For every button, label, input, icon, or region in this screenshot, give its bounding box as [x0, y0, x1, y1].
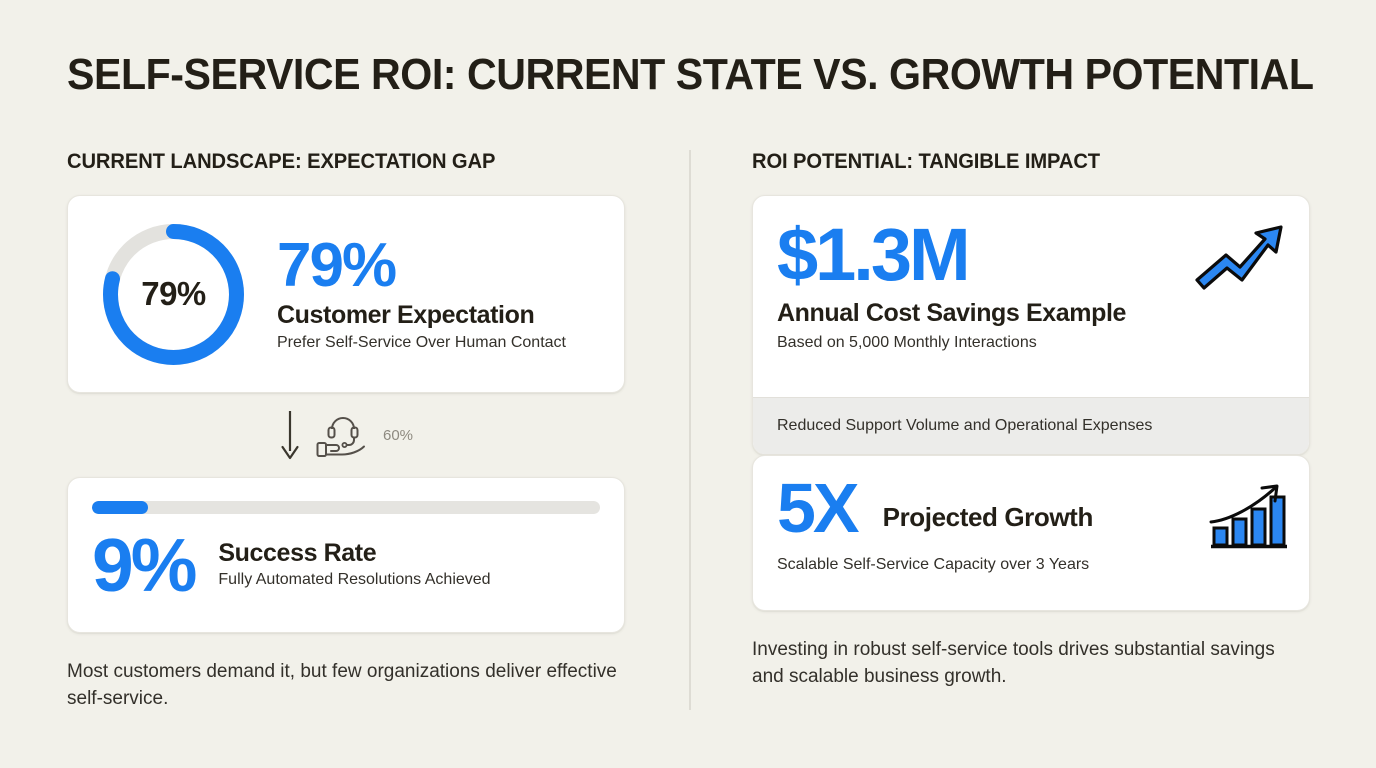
savings-label: Annual Cost Savings Example [777, 299, 1285, 328]
growth-label: Projected Growth [883, 484, 1093, 533]
donut-subtext: Prefer Self-Service Over Human Contact [277, 334, 566, 352]
headset-in-hand-icon [315, 410, 369, 460]
column-divider [689, 150, 691, 710]
donut-chart: 79% [96, 217, 251, 372]
success-subtext: Fully Automated Resolutions Achieved [218, 571, 490, 589]
savings-footer-note: Reduced Support Volume and Operational E… [753, 397, 1309, 454]
savings-subtext: Based on 5,000 Monthly Interactions [777, 334, 1285, 352]
customer-expectation-card: 79% 79% Customer Expectation Prefer Self… [67, 195, 625, 393]
donut-center-value: 79% [96, 217, 251, 372]
projected-growth-card: 5X Projected Growth Scalable Self-Servic… [752, 455, 1310, 611]
growth-subtext: Scalable Self-Service Capacity over 3 Ye… [777, 556, 1285, 574]
left-column: CURRENT LANDSCAPE: EXPECTATION GAP 79% 7… [67, 150, 625, 713]
annual-savings-card: $1.3M Annual Cost Savings Example Based … [752, 195, 1310, 455]
success-row: 9% Success Rate Fully Automated Resoluti… [92, 534, 600, 598]
donut-label: Customer Expectation [277, 301, 566, 330]
success-text-block: Success Rate Fully Automated Resolutions… [218, 539, 490, 593]
gap-connector: 60% [67, 393, 625, 477]
success-big-value: 9% [92, 534, 194, 598]
success-label: Success Rate [218, 539, 490, 568]
down-arrow-icon [279, 409, 301, 461]
left-column-footer: Most customers demand it, but few organi… [67, 659, 625, 713]
growth-big-value: 5X [777, 478, 857, 540]
savings-body: $1.3M Annual Cost Savings Example Based … [753, 196, 1309, 397]
success-progress-track [92, 501, 600, 514]
connector-percent-label: 60% [383, 427, 413, 444]
page-title: SELF-SERVICE ROI: CURRENT STATE VS. GROW… [67, 50, 1236, 100]
trend-up-arrow-icon [1193, 222, 1285, 292]
success-progress-fill [92, 501, 148, 514]
success-rate-card: 9% Success Rate Fully Automated Resoluti… [67, 477, 625, 633]
donut-big-value: 79% [277, 236, 566, 297]
right-column: ROI POTENTIAL: TANGIBLE IMPACT $1.3M Ann… [752, 150, 1310, 691]
donut-text-block: 79% Customer Expectation Prefer Self-Ser… [277, 236, 566, 353]
right-column-heading: ROI POTENTIAL: TANGIBLE IMPACT [752, 150, 1288, 174]
bar-chart-growth-icon [1209, 482, 1287, 552]
right-column-footer: Investing in robust self-service tools d… [752, 637, 1310, 691]
left-column-heading: CURRENT LANDSCAPE: EXPECTATION GAP [67, 150, 603, 174]
